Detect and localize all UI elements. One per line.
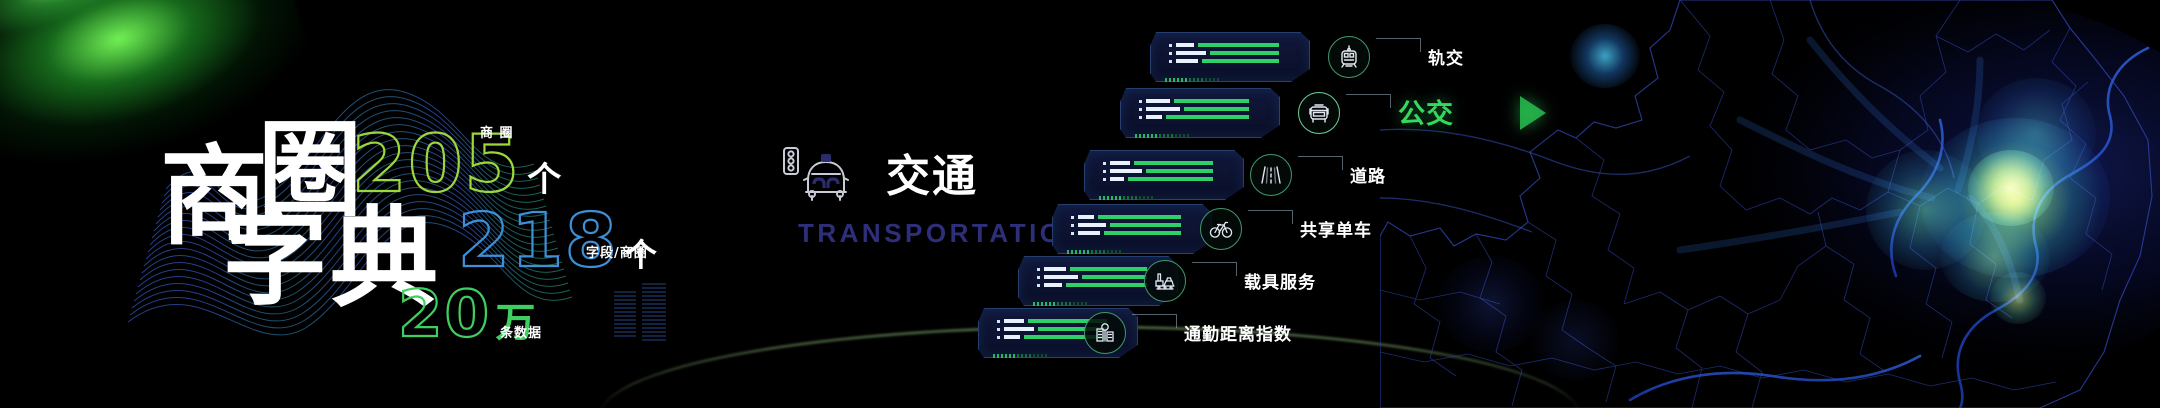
menu-item-panel xyxy=(1084,150,1244,200)
metro-train-icon xyxy=(1328,36,1370,78)
vehicle-service-icon xyxy=(1144,260,1186,302)
stat-data-records: 20 万 条数据 xyxy=(398,278,536,352)
bus-icon xyxy=(1298,92,1340,134)
banner-root: 商 圈 字 典 205 个 商 圈 218 个 字段/商圈 20 万 条数据 xyxy=(0,0,2160,408)
stat-number-20: 20 xyxy=(398,278,491,352)
category-name-cn: 交通 xyxy=(886,140,978,204)
density-heatmap-map xyxy=(1380,0,2160,408)
stat-caption-20w: 条数据 xyxy=(500,322,542,341)
menu-leader-line xyxy=(1298,156,1342,157)
menu-item-label: 载具服务 xyxy=(1244,268,1316,293)
menu-leader-line xyxy=(1248,210,1292,211)
menu-list: 轨交 xyxy=(1020,0,1420,408)
hero-section: 商 圈 字 典 205 个 商 圈 218 个 字段/商圈 20 万 条数据 xyxy=(0,0,700,408)
bicycle-icon xyxy=(1200,208,1242,250)
menu-item-label: 共享单车 xyxy=(1300,216,1372,241)
map-district-outlines xyxy=(1380,0,2160,408)
title-char-3: 字 xyxy=(222,206,326,312)
stat-caption-205: 商 圈 xyxy=(480,122,514,141)
menu-item-panel xyxy=(1052,204,1212,254)
taxi-icon xyxy=(780,140,872,204)
stat-business-districts: 205 个 商 圈 xyxy=(352,120,561,210)
bar-stripes-decoration xyxy=(612,282,670,346)
menu-item-panel xyxy=(1120,88,1280,138)
stat-number-218: 218 xyxy=(458,198,618,284)
stat-unit-205: 个 xyxy=(527,152,561,201)
category-block: 交通 TRANSPORTATION xyxy=(780,140,1060,249)
menu-leader-line xyxy=(1132,314,1176,315)
stat-fields-per-district: 218 个 字段/商圈 xyxy=(458,198,657,284)
menu-item-panel xyxy=(1150,32,1310,82)
menu-leader-line xyxy=(1192,262,1236,263)
menu-item-label: 通勤距离指数 xyxy=(1184,320,1292,345)
road-icon xyxy=(1250,154,1292,196)
stat-caption-218: 字段/商圈 xyxy=(586,242,648,261)
commute-distance-icon xyxy=(1084,312,1126,354)
